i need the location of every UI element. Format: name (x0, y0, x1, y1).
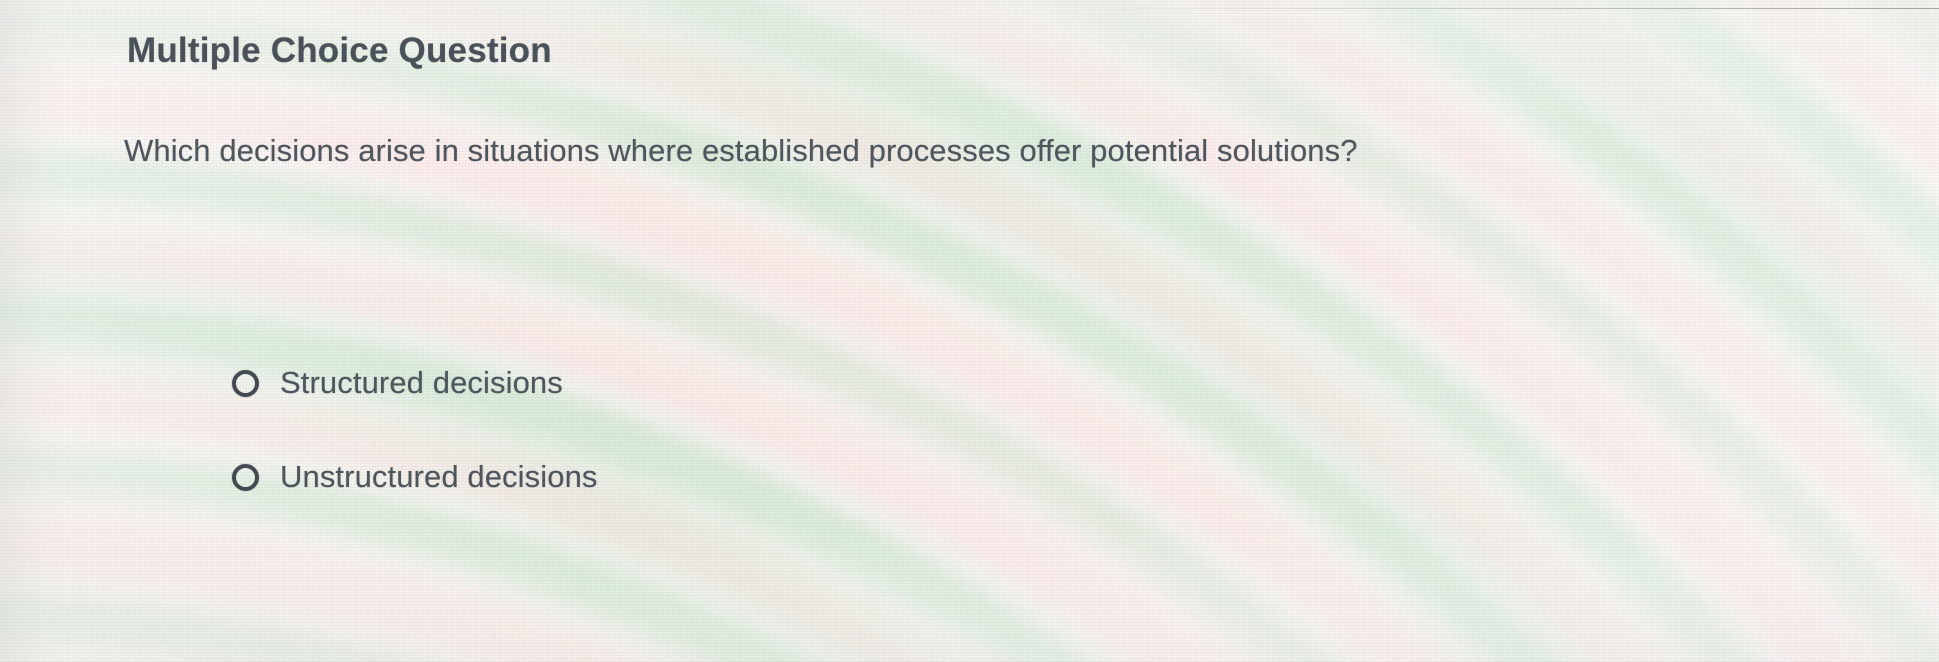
radio-unchecked-icon[interactable] (232, 464, 259, 491)
answer-option-structured-decisions[interactable]: Structured decisions (232, 352, 1432, 414)
radio-unchecked-icon[interactable] (232, 370, 259, 397)
page-title: Multiple Choice Question (127, 31, 552, 71)
answer-option-label: Structured decisions (280, 365, 563, 401)
screenshot-root: Multiple Choice Question Which decisions… (0, 0, 1939, 662)
answer-options-list: Structured decisions Unstructured decisi… (232, 352, 1432, 540)
answer-option-label: Unstructured decisions (280, 459, 598, 495)
answer-option-unstructured-decisions[interactable]: Unstructured decisions (232, 446, 1432, 508)
question-content: Multiple Choice Question Which decisions… (0, 0, 1939, 662)
question-prompt: Which decisions arise in situations wher… (124, 133, 1358, 169)
